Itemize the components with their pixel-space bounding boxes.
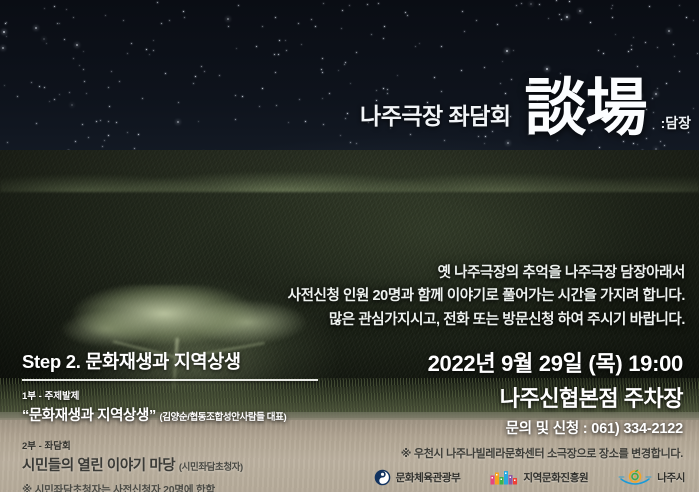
part1-line: “문화재생과 지역상생” (김양순/협동조합성안사람들 대표) (22, 404, 342, 425)
venue-change-note: ※ 우천시 나주나빌레라문화센터 소극장으로 장소를 변경합니다. (401, 445, 683, 461)
intro-line-1: 옛 나주극장의 추억을 나주극장 담장아래서 (165, 262, 685, 285)
intro-line-3: 많은 관심가지시고, 전화 또는 방문신청 하여 주시기 바랍니다. (165, 309, 685, 332)
program-part-2: 2부 - 좌담회 시민들의 열린 이야기 마당 (시민좌담초청자) (22, 438, 342, 475)
event-date: 2022년 9월 29일 (목) 19:00 (401, 346, 683, 378)
contact-phone: 문의 및 신청 : 061) 334-2122 (401, 417, 683, 438)
header-romanization: :담장 (661, 113, 691, 139)
poster-header: 나주극장 좌담회 談場 :담장 (360, 78, 691, 139)
part2-title: 시민들의 열린 이야기 마당 (22, 458, 175, 474)
program-divider (22, 379, 318, 381)
logo-naju: 나주시 (618, 468, 685, 486)
part2-tag: 2부 - 좌담회 (22, 438, 342, 452)
program-step-title: Step 2. 문화재생과 지역상생 (22, 348, 342, 374)
part1-speaker: (김양순/협동조합성안사람들 대표) (159, 412, 286, 423)
part1-title: “문화재생과 지역상생” (22, 408, 156, 424)
naju-emblem-icon (618, 468, 652, 486)
part2-line: 시민들의 열린 이야기 마당 (시민좌담초청자) (22, 454, 342, 475)
event-venue: 나주신협본점 주차장 (401, 381, 683, 413)
logo-rcda-label: 지역문화진흥원 (523, 470, 588, 485)
intro-paragraph: 옛 나주극장의 추억을 나주극장 담장아래서 사전신청 인원 20명과 함께 이… (165, 262, 685, 332)
part1-tag: 1부 - 주제발제 (22, 388, 342, 402)
sponsor-logo-bar: 문화체육관광부 지역문화진흥원 (374, 468, 685, 486)
page-title: 談場 (525, 78, 647, 139)
program-part-1: 1부 - 주제발제 “문화재생과 지역상생” (김양순/협동조합성안사람들 대표… (22, 388, 342, 425)
program-note: ※ 시민좌담초청자는 사전신청자 20명에 한함 (22, 482, 342, 492)
logo-naju-label: 나주시 (657, 470, 685, 485)
logo-mcst: 문화체육관광부 (374, 469, 461, 486)
intro-line-2: 사전신청 인원 20명과 함께 이야기로 풀어가는 시간을 가지려 합니다. (165, 285, 685, 308)
logo-mcst-label: 문화체육관광부 (396, 470, 461, 485)
event-info-block: 2022년 9월 29일 (목) 19:00 나주신협본점 주차장 문의 및 신… (401, 346, 683, 461)
taegeuk-icon (374, 469, 391, 486)
header-subtitle: 나주극장 좌담회 (360, 97, 511, 139)
logo-rcda: 지역문화진흥원 (490, 469, 588, 485)
program-block: Step 2. 문화재생과 지역상생 1부 - 주제발제 “문화재생과 지역상생… (22, 348, 342, 492)
part2-speaker: (시민좌담초청자) (179, 462, 243, 473)
poster-canvas: 나주극장 좌담회 談場 :담장 옛 나주극장의 추억을 나주극장 담장아래서 사… (0, 0, 699, 492)
buildings-icon (490, 469, 518, 485)
